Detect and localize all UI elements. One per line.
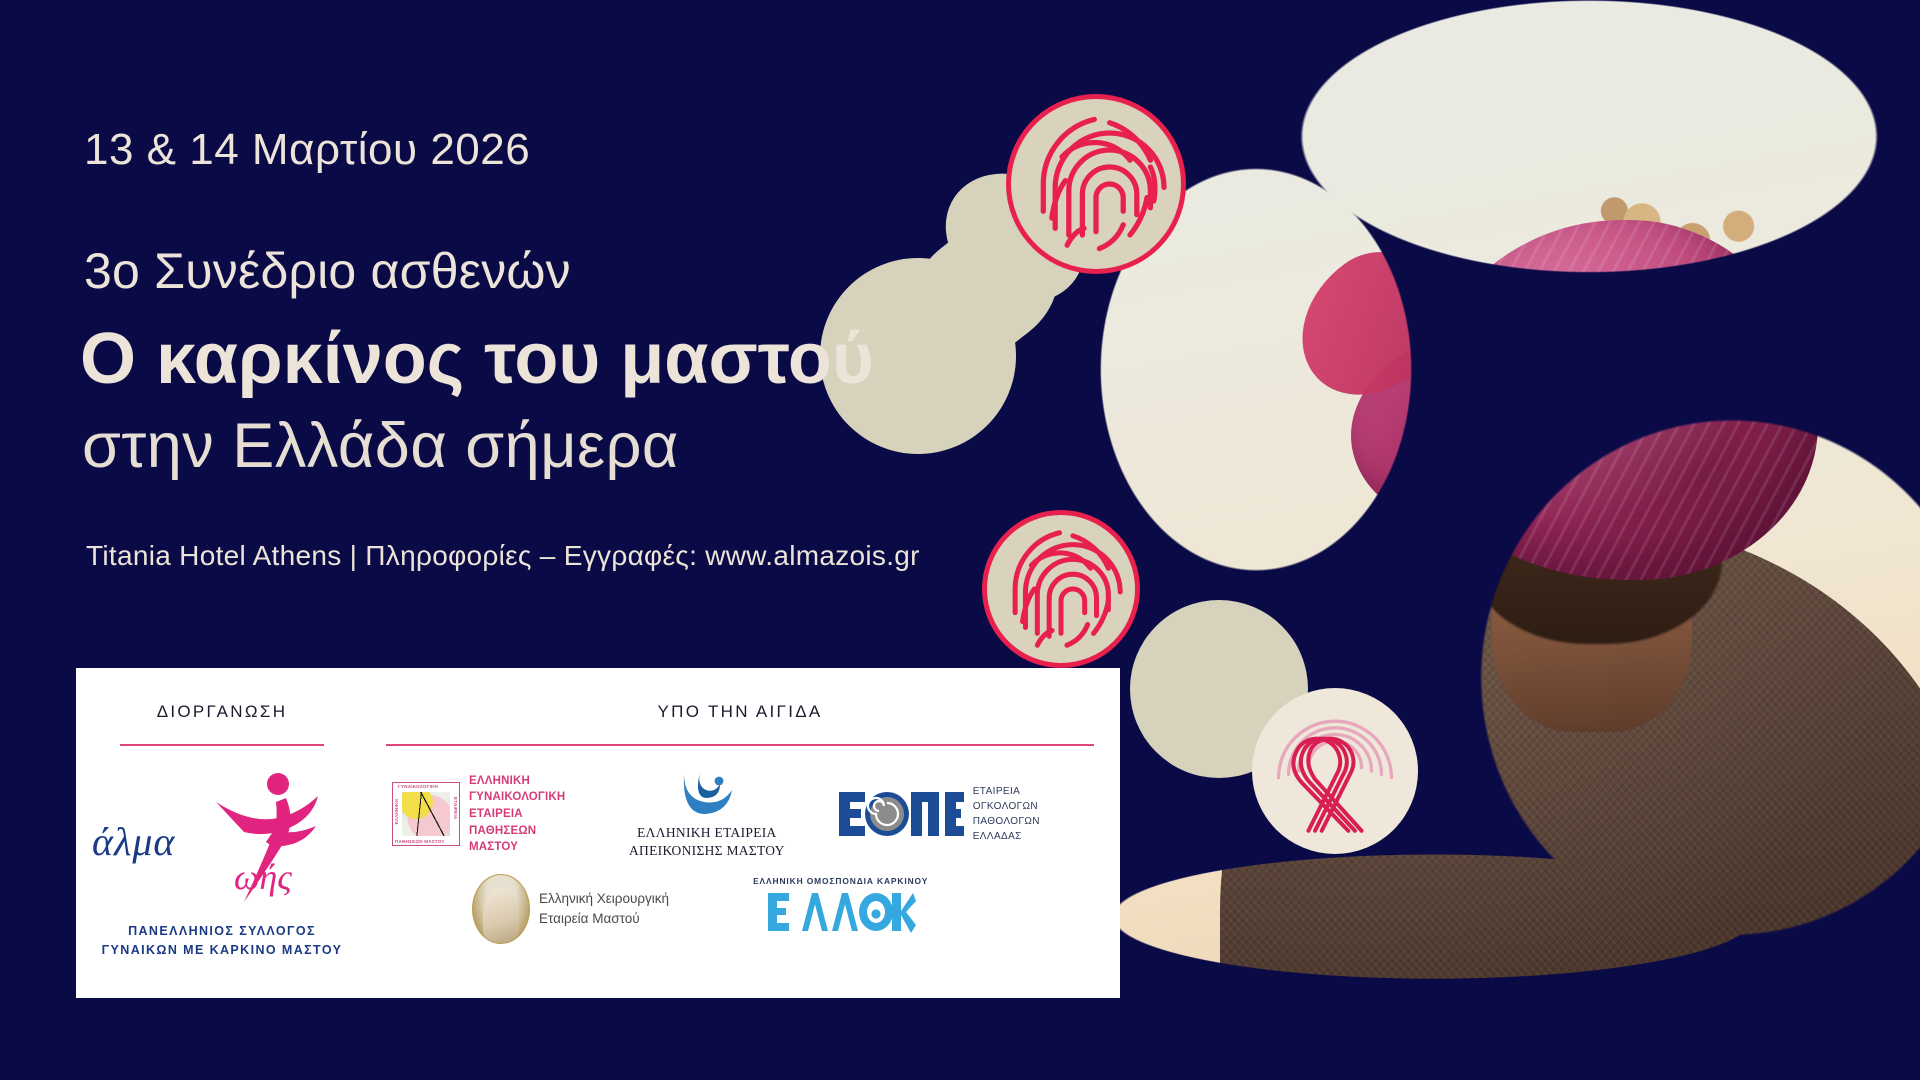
alma-zois-caption: ΠΑΝΕΛΛΗΝΙΟΣ ΣΥΛΛΟΓΟΣ ΓΥΝΑΙΚΩΝ ΜΕ ΚΑΡΚΙΝΟ… <box>88 922 356 961</box>
eope-name-line2: ΟΓΚΟΛΟΓΩΝ <box>973 799 1040 814</box>
eeam-name-line2: ΑΠΕΙΚΟΝΙΣΗΣ ΜΑΣΤΟΥ <box>629 842 785 860</box>
auspices-heading: ΥΠΟ ΤΗΝ ΑΙΓΙΔΑ <box>386 702 1094 722</box>
content-column: 13 & 14 Μαρτίου 2026 3ο Συνέδριο ασθενών… <box>0 0 1120 1080</box>
exem-name-line2: Εταιρεία Μαστού <box>539 909 669 929</box>
logo-panel: ΔΙΟΡΓΑΝΩΣΗ άλμα ωής ΠΑΝΕΛΛΗΝΙΟΣ ΣΥΛΛΟΓΟΣ… <box>76 668 1120 998</box>
egepm-thumb-top: ΓΥΝΑΙΚΟΛΟΓΙΚΗ <box>398 784 438 789</box>
alma-zois-logo[interactable]: άλμα ωής ΠΑΝΕΛΛΗΝΙΟΣ ΣΥΛΛΟΓΟΣ ΓΥΝΑΙΚΩΝ Μ… <box>88 772 356 922</box>
alma-zois-word-alma: άλμα <box>92 818 175 865</box>
auspices-divider <box>386 744 1094 746</box>
awareness-ribbon-icon <box>1252 688 1418 854</box>
eope-name: ΕΤΑΙΡΕΙΑ ΟΓΚΟΛΟΓΩΝ ΠΑΘΟΛΟΓΩΝ ΕΛΛΑΔΑΣ <box>973 784 1040 844</box>
auspices-row-2: Ελληνική Χειρουργική Εταιρεία Μαστού ΕΛΛ… <box>386 874 1094 944</box>
eope-name-line1: ΕΤΑΙΡΕΙΑ <box>973 784 1040 799</box>
eeam-name: ΕΛΛΗΝΙΚΗ ΕΤΑΙΡΕΙΑ ΑΠΕΙΚΟΝΙΣΗΣ ΜΑΣΤΟΥ <box>629 824 785 860</box>
eeam-swoosh-icon <box>676 768 738 814</box>
organizer-section: ΔΙΟΡΓΑΝΩΣΗ άλμα ωής ΠΑΝΕΛΛΗΝΙΟΣ ΣΥΛΛΟΓΟΣ… <box>76 668 368 998</box>
alma-zois-caption-line2: ΓΥΝΑΙΚΩΝ ΜΕ ΚΑΡΚΙΝΟ ΜΑΣΤΟΥ <box>88 941 356 960</box>
eope-name-line3: ΠΑΘΟΛΟΓΩΝ <box>973 814 1040 829</box>
exem-name: Ελληνική Χειρουργική Εταιρεία Μαστού <box>539 889 669 930</box>
logo-egepm[interactable]: ΓΥΝΑΙΚΟΛΟΓΙΚΗ ΕΛΛΗΝΙΚΗ ΕΤΑΙΡΕΙΑ ΠΑΘΗΣΕΩΝ… <box>392 773 577 856</box>
logo-eope[interactable]: ΕΤΑΙΡΕΙΑ ΟΓΚΟΛΟΓΩΝ ΠΑΘΟΛΟΓΩΝ ΕΛΛΑΔΑΣ <box>837 784 1040 844</box>
logo-eeam[interactable]: ΕΛΛΗΝΙΚΗ ΕΤΑΙΡΕΙΑ ΑΠΕΙΚΟΝΙΣΗΣ ΜΑΣΤΟΥ <box>629 768 785 860</box>
egepm-thumb-right: ΕΤΑΙΡΕΙΑ <box>453 797 458 819</box>
event-title: Ο καρκίνος του μαστού <box>80 318 874 400</box>
logo-exem[interactable]: Ελληνική Χειρουργική Εταιρεία Μαστού <box>472 874 669 944</box>
event-pretitle: 3ο Συνέδριο ασθενών <box>84 242 571 300</box>
egepm-thumb-bottom: ΠΑΘΗΣΕΩΝ ΜΑΣΤΟΥ <box>395 839 445 844</box>
event-date: 13 & 14 Μαρτίου 2026 <box>84 125 530 175</box>
ellok-top-text: ΕΛΛΗΝΙΚΗ ΟΜΟΣΠΟΝΔΙΑ ΚΑΡΚΙΝΟΥ <box>753 876 928 886</box>
event-subtitle: στην Ελλάδα σήμερα <box>82 410 679 482</box>
hero-photo <box>1100 0 1920 1080</box>
eope-acronym-icon <box>837 788 965 840</box>
organizer-divider <box>120 744 324 746</box>
eope-name-line4: ΕΛΛΑΔΑΣ <box>973 829 1040 844</box>
egepm-name: ΕΛΛΗΝΙΚΗ ΓΥΝΑΙΚΟΛΟΓΙΚΗ ΕΤΑΙΡΕΙΑ ΠΑΘΗΣΕΩΝ… <box>469 773 577 856</box>
egepm-artwork-icon: ΓΥΝΑΙΚΟΛΟΓΙΚΗ ΕΛΛΗΝΙΚΗ ΕΤΑΙΡΕΙΑ ΠΑΘΗΣΕΩΝ… <box>392 782 460 846</box>
alma-zois-word-zois: ωής <box>234 856 292 898</box>
auspices-row-1: ΓΥΝΑΙΚΟΛΟΓΙΚΗ ΕΛΛΗΝΙΚΗ ΕΤΑΙΡΕΙΑ ΠΑΘΗΣΕΩΝ… <box>386 768 1094 860</box>
logo-ellok[interactable]: ΕΛΛΗΝΙΚΗ ΟΜΟΣΠΟΝΔΙΑ ΚΑΡΚΙΝΟΥ <box>753 876 928 942</box>
banner-stage: 13 & 14 Μαρτίου 2026 3ο Συνέδριο ασθενών… <box>0 0 1920 1080</box>
venue-info-line[interactable]: Titania Hotel Athens | Πληροφορίες – Εγγ… <box>86 540 920 572</box>
organizer-heading: ΔΙΟΡΓΑΝΩΣΗ <box>88 702 356 722</box>
exem-name-line1: Ελληνική Χειρουργική <box>539 889 669 909</box>
exem-statue-icon <box>472 874 530 944</box>
ribbon-badge <box>1252 688 1418 854</box>
alma-zois-caption-line1: ΠΑΝΕΛΛΗΝΙΟΣ ΣΥΛΛΟΓΟΣ <box>88 922 356 941</box>
auspices-section: ΥΠΟ ΤΗΝ ΑΙΓΙΔΑ ΓΥΝΑΙΚΟΛΟΓΙΚΗ ΕΛΛΗΝΙΚΗ ΕΤ… <box>368 668 1120 998</box>
egepm-thumb-left: ΕΛΛΗΝΙΚΗ <box>394 799 399 824</box>
eeam-name-line1: ΕΛΛΗΝΙΚΗ ΕΤΑΙΡΕΙΑ <box>629 824 785 842</box>
ellok-acronym-icon <box>766 887 916 937</box>
